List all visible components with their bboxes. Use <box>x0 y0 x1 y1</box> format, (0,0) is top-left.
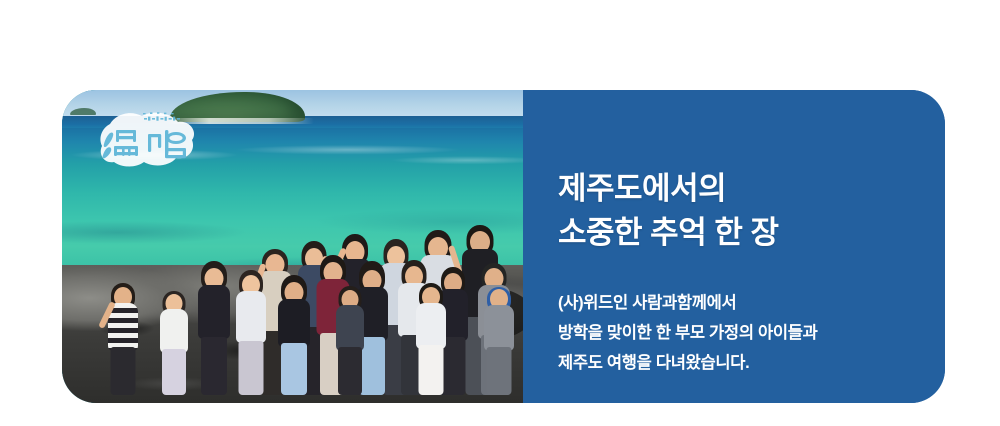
person-front-4 <box>336 287 364 395</box>
torso <box>198 285 230 339</box>
headline-line-1: 제주도에서의 <box>558 167 945 211</box>
banner-photo <box>62 90 523 403</box>
body-line-3: 제주도 여행을 다녀왔습니다. <box>558 348 945 378</box>
legs <box>338 347 362 395</box>
group-of-people <box>86 177 516 395</box>
legs <box>239 341 264 395</box>
legs <box>201 337 227 395</box>
torso <box>484 305 514 351</box>
person-front-2 <box>160 291 188 395</box>
person-mid-1 <box>198 261 230 395</box>
torso <box>236 291 266 343</box>
legs <box>487 347 512 395</box>
person-front-6 <box>484 285 514 395</box>
legs <box>111 347 136 395</box>
legs <box>162 349 186 395</box>
onmaeum-logo <box>92 98 204 172</box>
legs <box>419 345 444 395</box>
promo-banner-card: 제주도에서의 소중한 추억 한 장 (사)위드인 사람과함께에서 방학을 맞이한… <box>62 90 945 403</box>
torso <box>278 299 310 347</box>
headline-line-2: 소중한 추억 한 장 <box>558 211 945 255</box>
body-line-2: 방학을 맞이한 한 부모 가정의 아이들과 <box>558 318 945 348</box>
torso <box>336 305 364 351</box>
person-mid-2 <box>236 269 266 395</box>
banner-text-pane: 제주도에서의 소중한 추억 한 장 (사)위드인 사람과함께에서 방학을 맞이한… <box>523 90 945 403</box>
body-line-1: (사)위드인 사람과함께에서 <box>558 288 945 318</box>
torso <box>160 309 188 353</box>
person-front-1 <box>108 283 138 395</box>
legs <box>281 343 307 395</box>
banner-body-text: (사)위드인 사람과함께에서 방학을 맞이한 한 부모 가정의 아이들과 제주도… <box>558 288 945 378</box>
person-front-3 <box>278 277 310 395</box>
banner-headline: 제주도에서의 소중한 추억 한 장 <box>558 167 945 255</box>
person-front-5 <box>416 283 446 395</box>
torso <box>416 303 446 349</box>
